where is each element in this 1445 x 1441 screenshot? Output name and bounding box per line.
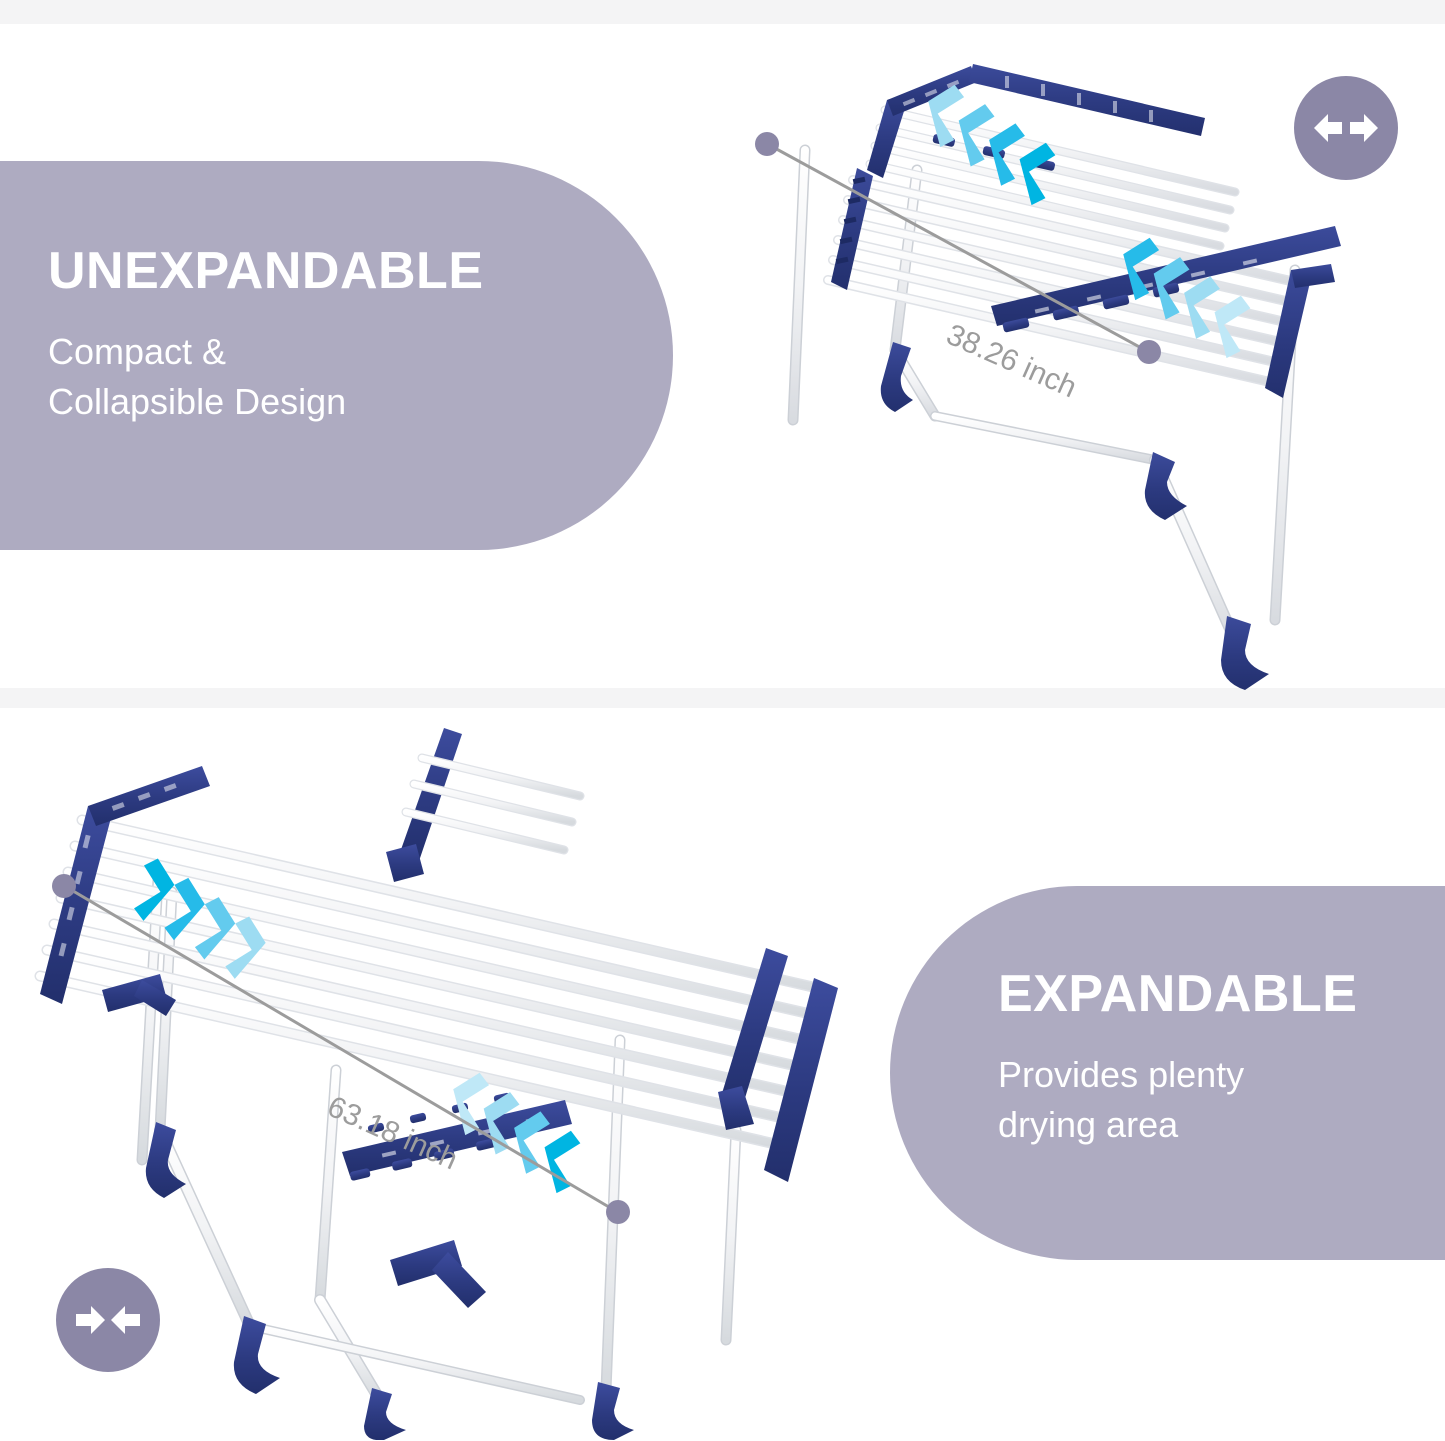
- badge-collapse: [56, 1268, 160, 1372]
- panel-unexpandable: UNEXPANDABLE Compact & Collapsible Desig…: [0, 161, 673, 550]
- panel-unexpandable-content: UNEXPANDABLE Compact & Collapsible Desig…: [48, 245, 484, 426]
- panel-expandable-content: EXPANDABLE Provides plenty drying area: [998, 968, 1357, 1149]
- panel-expandable-subline: Provides plenty drying area: [998, 1050, 1357, 1149]
- expand-arrows-icon: [1312, 111, 1380, 145]
- panel-expandable: EXPANDABLE Provides plenty drying area: [890, 886, 1445, 1260]
- badge-expand: [1294, 76, 1398, 180]
- collapse-arrows-icon: [74, 1303, 142, 1337]
- panel-expandable-headline: EXPANDABLE: [998, 968, 1357, 1020]
- panel-unexpandable-headline: UNEXPANDABLE: [48, 245, 484, 297]
- infographic-page: 38.26 inch: [0, 0, 1445, 1441]
- panel-unexpandable-subline: Compact & Collapsible Design: [48, 327, 484, 426]
